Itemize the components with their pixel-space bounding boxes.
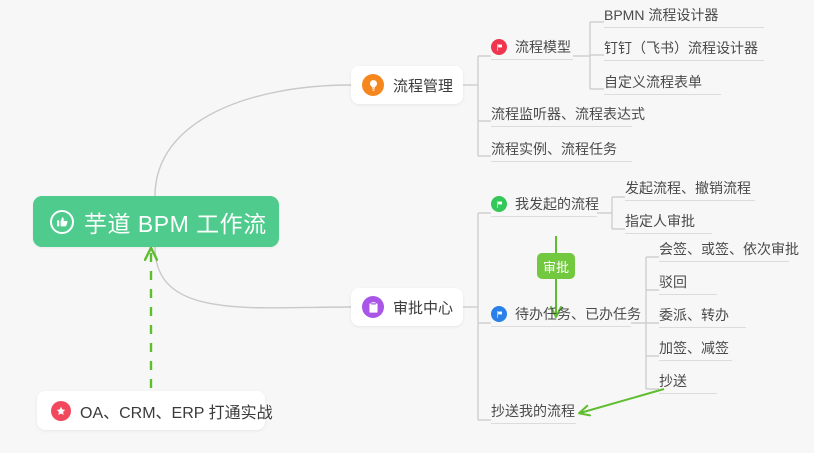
root-label: 芋道 BPM 工作流	[84, 205, 267, 239]
node-label-add-remove-sign: 加签、减签	[659, 339, 729, 357]
node-cc[interactable]: 抄送	[659, 372, 717, 394]
annotation-card-oa-crm-erp[interactable]: OA、CRM、ERP 打通实战	[37, 391, 265, 430]
flag-icon	[491, 196, 507, 212]
mindmap-canvas: 芋道 BPM 工作流 流程管理 流程模型 流程监听器、流程表达式 流程实例、流程…	[0, 0, 814, 453]
edge-liucheng-guanli-children	[463, 56, 491, 156]
node-assignee-approval[interactable]: 指定人审批	[625, 212, 712, 234]
annotation-tag-approval[interactable]: 审批	[537, 253, 575, 279]
node-label-bpmn-designer: BPMN 流程设计器	[604, 6, 718, 24]
node-label-delegate-transfer: 委派、转办	[659, 306, 729, 324]
node-add-remove-sign[interactable]: 加签、减签	[659, 339, 732, 361]
node-delegate-transfer[interactable]: 委派、转办	[659, 306, 746, 328]
node-label-listener-expression: 流程监听器、流程表达式	[491, 105, 645, 123]
root-node[interactable]: 芋道 BPM 工作流	[33, 196, 279, 247]
node-liucheng-moxing[interactable]: 流程模型	[491, 38, 573, 60]
node-label-cc: 抄送	[659, 372, 687, 390]
node-label-liucheng-moxing: 流程模型	[515, 38, 571, 56]
branch-node-liucheng-guanli[interactable]: 流程管理	[351, 66, 463, 104]
node-label-cc-to-me: 抄送我的流程	[491, 402, 575, 420]
node-countersign[interactable]: 会签、或签、依次审批	[659, 240, 789, 262]
star-icon	[51, 401, 71, 421]
node-label-reject: 驳回	[659, 273, 687, 291]
clipboard-icon	[362, 296, 384, 318]
annotation-tag-approval-label: 审批	[543, 257, 569, 276]
node-bpmn-designer[interactable]: BPMN 流程设计器	[604, 6, 764, 28]
node-start-cancel-process[interactable]: 发起流程、撤销流程	[625, 179, 755, 201]
flag-icon	[491, 306, 507, 322]
edge-my-initiated-children	[597, 197, 625, 229]
node-reject[interactable]: 驳回	[659, 273, 717, 295]
edge-todo-done-children	[631, 257, 659, 389]
node-dingtalk-feishu-designer[interactable]: 钉钉（飞书）流程设计器	[604, 39, 764, 61]
node-custom-process-form[interactable]: 自定义流程表单	[604, 73, 721, 95]
lightbulb-icon	[362, 74, 384, 96]
edge-root-to-liucheng-guanli	[155, 85, 351, 196]
annotation-arrow-cc-to-ccme[interactable]	[580, 389, 664, 413]
node-label-start-cancel-process: 发起流程、撤销流程	[625, 179, 751, 197]
branch-label-liucheng-guanli: 流程管理	[393, 75, 453, 96]
branch-label-shenpi-zhongxin: 审批中心	[393, 297, 453, 318]
node-cc-to-me[interactable]: 抄送我的流程	[491, 402, 576, 424]
node-listener-expression[interactable]: 流程监听器、流程表达式	[491, 105, 632, 127]
node-label-countersign: 会签、或签、依次审批	[659, 240, 799, 258]
node-label-dingtalk-feishu-designer: 钉钉（飞书）流程设计器	[604, 39, 758, 57]
thumbs-up-icon	[50, 210, 74, 234]
branch-node-shenpi-zhongxin[interactable]: 审批中心	[351, 288, 463, 326]
node-todo-done-tasks[interactable]: 待办任务、已办任务	[491, 305, 631, 327]
edge-shenpi-zhongxin-children	[463, 213, 491, 420]
node-my-initiated[interactable]: 我发起的流程	[491, 195, 597, 217]
node-label-todo-done-tasks: 待办任务、已办任务	[515, 305, 641, 323]
node-label-instance-task: 流程实例、流程任务	[491, 140, 617, 158]
node-instance-task[interactable]: 流程实例、流程任务	[491, 140, 632, 162]
annotation-card-oa-crm-erp-label: OA、CRM、ERP 打通实战	[80, 399, 273, 423]
node-label-my-initiated: 我发起的流程	[515, 195, 599, 213]
edge-root-to-shenpi-zhongxin	[155, 247, 351, 308]
flag-icon	[491, 39, 507, 55]
node-label-assignee-approval: 指定人审批	[625, 212, 695, 230]
node-label-custom-process-form: 自定义流程表单	[604, 73, 702, 91]
edge-liucheng-moxing-children	[573, 22, 604, 89]
